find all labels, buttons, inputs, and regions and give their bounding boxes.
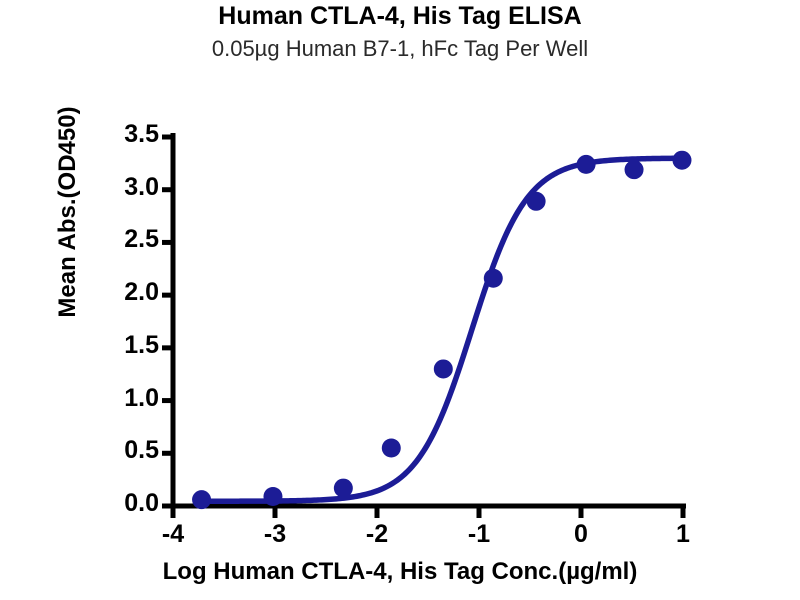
- x-tick-label: -1: [459, 520, 499, 549]
- data-point: [263, 487, 282, 506]
- x-axis-label: Log Human CTLA-4, His Tag Conc.(µg/ml): [0, 558, 800, 586]
- sigmoid-fit-curve: [202, 158, 682, 501]
- data-point: [527, 192, 546, 211]
- x-tick-label: -4: [153, 520, 193, 549]
- data-point: [434, 359, 453, 378]
- data-point: [625, 160, 644, 179]
- data-point: [484, 269, 503, 288]
- y-tick-label: 1.5: [97, 331, 159, 360]
- chart-figure: Human CTLA-4, His Tag ELISA 0.05µg Human…: [0, 0, 800, 600]
- y-tick-label: 3.5: [97, 120, 159, 149]
- data-point: [672, 151, 691, 170]
- axis-lines: [171, 133, 686, 506]
- y-tick-label: 2.5: [97, 225, 159, 254]
- y-tick-label: 2.0: [97, 278, 159, 307]
- y-tick-label: 0.0: [97, 489, 159, 518]
- y-axis-label: Mean Abs.(OD450): [54, 82, 82, 342]
- y-tick-label: 3.0: [97, 173, 159, 202]
- data-point: [192, 490, 211, 509]
- data-point: [382, 439, 401, 458]
- y-tick-label: 0.5: [97, 436, 159, 465]
- data-point-markers: [192, 151, 691, 509]
- data-point: [334, 479, 353, 498]
- x-tick-label: 0: [561, 520, 601, 549]
- x-tick-label: 1: [663, 520, 703, 549]
- y-tick-label: 1.0: [97, 384, 159, 413]
- x-tick-label: -2: [357, 520, 397, 549]
- data-point: [577, 155, 596, 174]
- x-tick-label: -3: [255, 520, 295, 549]
